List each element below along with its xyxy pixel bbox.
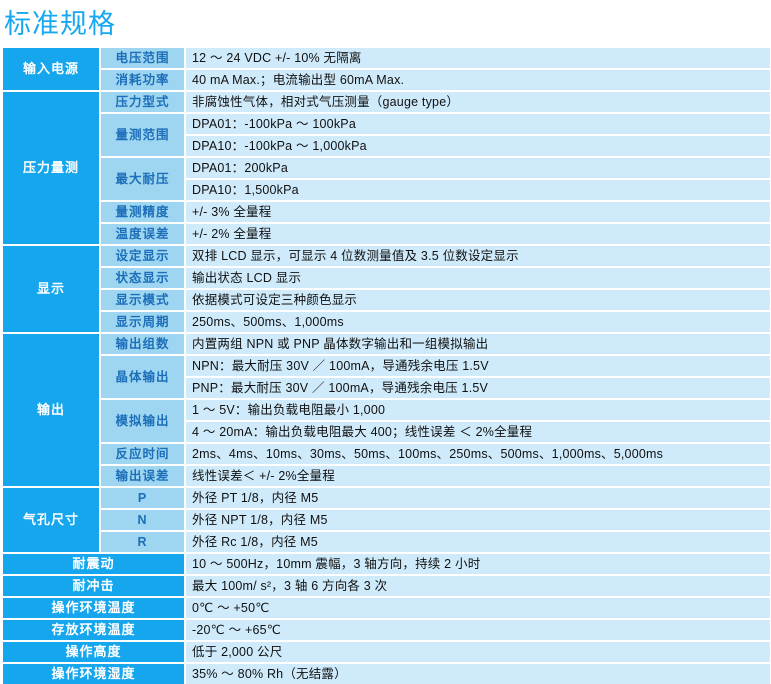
value-display-cycle: 250ms、500ms、1,000ms — [186, 312, 770, 334]
value-pressure-type: 非腐蚀性气体，相对式气压测量（gauge type） — [186, 92, 770, 114]
table-row: 消耗功率 40 mA Max.；电流输出型 60mA Max. — [3, 70, 770, 92]
sub-label-temperature-error: 温度误差 — [101, 224, 186, 246]
label-vibration-resistance: 耐震动 — [3, 554, 186, 576]
value-transistor-output-pnp: PNP：最大耐压 30V ／ 100mA，导通残余电压 1.5V — [186, 378, 770, 400]
table-row: N 外径 NPT 1/8，内径 M5 — [3, 510, 770, 532]
table-row: R 外径 Rc 1/8，内径 M5 — [3, 532, 770, 554]
sub-label-display-mode: 显示模式 — [101, 290, 186, 312]
table-row: 晶体输出 NPN：最大耐压 30V ／ 100mA，导通残余电压 1.5V — [3, 356, 770, 378]
value-transistor-output-npn: NPN：最大耐压 30V ／ 100mA，导通残余电压 1.5V — [186, 356, 770, 378]
value-shock-resistance: 最大 100m/ s²，3 轴 6 方向各 3 次 — [186, 576, 770, 598]
value-port-n: 外径 NPT 1/8，内径 M5 — [186, 510, 770, 532]
value-setting-display: 双排 LCD 显示，可显示 4 位数测量值及 3.5 位数设定显示 — [186, 246, 770, 268]
value-operating-humidity: 35% ～ 80% Rh（无结露） — [186, 664, 770, 684]
sub-label-setting-display: 设定显示 — [101, 246, 186, 268]
label-operating-altitude: 操作高度 — [3, 642, 186, 664]
value-operating-altitude: 低于 2,000 公尺 — [186, 642, 770, 664]
group-label-display: 显示 — [3, 246, 101, 334]
sub-label-analog-output: 模拟输出 — [101, 400, 186, 444]
sub-label-voltage-range: 电压范围 — [101, 48, 186, 70]
value-vibration-resistance: 10 ～ 500Hz，10mm 震幅，3 轴方向，持续 2 小时 — [186, 554, 770, 576]
sub-label-transistor-output: 晶体输出 — [101, 356, 186, 400]
sub-label-measuring-range: 量测范围 — [101, 114, 186, 158]
table-row: 操作环境温度 0℃ ～ +50℃ — [3, 598, 770, 620]
sub-label-response-time: 反应时间 — [101, 444, 186, 466]
sub-label-output-error: 输出误差 — [101, 466, 186, 488]
label-operating-humidity: 操作环境湿度 — [3, 664, 186, 684]
spec-sheet-page: 标准规格 输入电源 电压范围 12 ～ 24 VDC +/- 10% 无隔离 消… — [0, 0, 771, 666]
value-measuring-range-dpa10: DPA10：-100kPa ～ 1,000kPa — [186, 136, 770, 158]
table-row: 模拟输出 1 ～ 5V：输出负载电阻最小 1,000 — [3, 400, 770, 422]
table-row: 量测精度 +/- 3% 全量程 — [3, 202, 770, 224]
value-temperature-error: +/- 2% 全量程 — [186, 224, 770, 246]
sub-label-status-display: 状态显示 — [101, 268, 186, 290]
value-max-pressure-dpa10: DPA10：1,500kPa — [186, 180, 770, 202]
page-title: 标准规格 — [0, 0, 771, 48]
table-row: 气孔尺寸 P 外径 PT 1/8，内径 M5 — [3, 488, 770, 510]
value-voltage-range: 12 ～ 24 VDC +/- 10% 无隔离 — [186, 48, 770, 70]
group-label-port-size: 气孔尺寸 — [3, 488, 101, 554]
value-operating-temperature: 0℃ ～ +50℃ — [186, 598, 770, 620]
table-row: 状态显示 输出状态 LCD 显示 — [3, 268, 770, 290]
value-max-pressure-dpa01: DPA01：200kPa — [186, 158, 770, 180]
standard-specification-table: 输入电源 电压范围 12 ～ 24 VDC +/- 10% 无隔离 消耗功率 4… — [3, 48, 770, 684]
value-analog-output-voltage: 1 ～ 5V：输出负载电阻最小 1,000 — [186, 400, 770, 422]
group-label-output: 输出 — [3, 334, 101, 488]
value-display-mode: 依据模式可设定三种颜色显示 — [186, 290, 770, 312]
spec-table-body: 输入电源 电压范围 12 ～ 24 VDC +/- 10% 无隔离 消耗功率 4… — [3, 48, 770, 684]
table-row: 输入电源 电压范围 12 ～ 24 VDC +/- 10% 无隔离 — [3, 48, 770, 70]
table-row: 最大耐压 DPA01：200kPa — [3, 158, 770, 180]
value-measuring-accuracy: +/- 3% 全量程 — [186, 202, 770, 224]
sub-label-pressure-type: 压力型式 — [101, 92, 186, 114]
value-port-r: 外径 Rc 1/8，内径 M5 — [186, 532, 770, 554]
table-row: 存放环境温度 -20℃ ～ +65℃ — [3, 620, 770, 642]
table-row: 显示周期 250ms、500ms、1,000ms — [3, 312, 770, 334]
table-row: 耐震动 10 ～ 500Hz，10mm 震幅，3 轴方向，持续 2 小时 — [3, 554, 770, 576]
group-label-pressure-measurement: 压力量测 — [3, 92, 101, 246]
table-row: 输出 输出组数 内置两组 NPN 或 PNP 晶体数字输出和一组模拟输出 — [3, 334, 770, 356]
label-storage-temperature: 存放环境温度 — [3, 620, 186, 642]
table-row: 反应时间 2ms、4ms、10ms、30ms、50ms、100ms、250ms、… — [3, 444, 770, 466]
table-row: 耐冲击 最大 100m/ s²，3 轴 6 方向各 3 次 — [3, 576, 770, 598]
table-row: 压力量测 压力型式 非腐蚀性气体，相对式气压测量（gauge type） — [3, 92, 770, 114]
table-row: 显示模式 依据模式可设定三种颜色显示 — [3, 290, 770, 312]
group-label-input-power: 输入电源 — [3, 48, 101, 92]
value-measuring-range-dpa01: DPA01：-100kPa ～ 100kPa — [186, 114, 770, 136]
sub-label-port-n: N — [101, 510, 186, 532]
table-row: 操作环境湿度 35% ～ 80% Rh（无结露） — [3, 664, 770, 684]
table-row: 显示 设定显示 双排 LCD 显示，可显示 4 位数测量值及 3.5 位数设定显… — [3, 246, 770, 268]
sub-label-power-consumption: 消耗功率 — [101, 70, 186, 92]
value-storage-temperature: -20℃ ～ +65℃ — [186, 620, 770, 642]
label-operating-temperature: 操作环境温度 — [3, 598, 186, 620]
value-response-time: 2ms、4ms、10ms、30ms、50ms、100ms、250ms、500ms… — [186, 444, 770, 466]
value-port-p: 外径 PT 1/8，内径 M5 — [186, 488, 770, 510]
sub-label-port-p: P — [101, 488, 186, 510]
table-row: 量测范围 DPA01：-100kPa ～ 100kPa — [3, 114, 770, 136]
sub-label-port-r: R — [101, 532, 186, 554]
sub-label-display-cycle: 显示周期 — [101, 312, 186, 334]
table-row: 操作高度 低于 2,000 公尺 — [3, 642, 770, 664]
value-output-error: 线性误差＜ +/- 2%全量程 — [186, 466, 770, 488]
value-power-consumption: 40 mA Max.；电流输出型 60mA Max. — [186, 70, 770, 92]
sub-label-measuring-accuracy: 量测精度 — [101, 202, 186, 224]
value-status-display: 输出状态 LCD 显示 — [186, 268, 770, 290]
table-row: 输出误差 线性误差＜ +/- 2%全量程 — [3, 466, 770, 488]
table-row: 温度误差 +/- 2% 全量程 — [3, 224, 770, 246]
label-shock-resistance: 耐冲击 — [3, 576, 186, 598]
value-output-groups: 内置两组 NPN 或 PNP 晶体数字输出和一组模拟输出 — [186, 334, 770, 356]
sub-label-output-groups: 输出组数 — [101, 334, 186, 356]
sub-label-max-pressure: 最大耐压 — [101, 158, 186, 202]
value-analog-output-current: 4 ～ 20mA：输出负载电阻最大 400；线性误差 ＜ 2%全量程 — [186, 422, 770, 444]
